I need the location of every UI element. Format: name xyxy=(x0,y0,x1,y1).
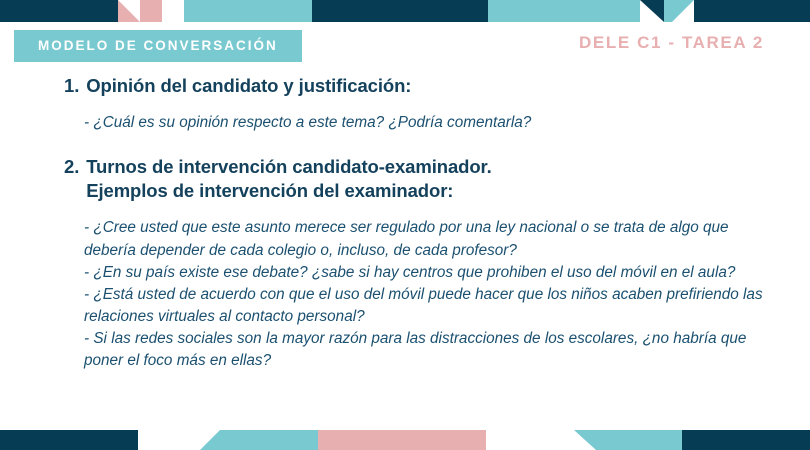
header: MODELO DE CONVERSACIÓN DELE C1 - TAREA 2 xyxy=(0,30,810,64)
navy-block-right xyxy=(682,430,810,450)
teal-triangle-right xyxy=(672,0,694,22)
section-1-heading-text: Opinión del candidato y justificación: xyxy=(86,74,810,98)
section-1-number: 1. xyxy=(64,74,79,98)
section-1-question-1: - ¿Cuál es su opinión respecto a este te… xyxy=(0,112,810,134)
teal-block-one xyxy=(184,0,312,22)
section-2: 2. Turnos de intervención candidato-exam… xyxy=(0,155,810,373)
section-2-question-1: - ¿Cree usted que este asunto merece ser… xyxy=(0,217,810,261)
navy-block-left xyxy=(0,0,118,22)
section-2-question-2: - ¿En su país existe ese debate? ¿sabe s… xyxy=(0,262,810,284)
pink-block xyxy=(318,430,486,450)
section-2-question-3: - ¿Está usted de acuerdo con que el uso … xyxy=(0,284,810,328)
section-1: 1. Opinión del candidato y justificación… xyxy=(0,74,810,135)
navy-block-center xyxy=(312,0,488,22)
section-2-heading-text-group: Turnos de intervención candidato-examina… xyxy=(86,155,810,204)
navy-block-right xyxy=(694,0,810,22)
exam-tag: DELE C1 - TAREA 2 xyxy=(579,33,764,53)
section-2-heading-line-1: Turnos de intervención candidato-examina… xyxy=(86,156,491,177)
teal-block-right xyxy=(596,430,682,450)
top-decorative-band xyxy=(0,0,810,22)
teal-block-two xyxy=(488,0,640,22)
section-2-number: 2. xyxy=(64,155,79,179)
white-gap-left xyxy=(138,430,200,450)
teal-block xyxy=(220,430,318,450)
white-triangle xyxy=(162,0,184,22)
teal-triangle-bottom xyxy=(200,430,220,450)
content-body: 1. Opinión del candidato y justificación… xyxy=(0,74,810,373)
model-label-text: MODELO DE CONVERSACIÓN xyxy=(38,39,278,53)
section-2-question-4: - Si las redes sociales son la mayor raz… xyxy=(0,328,810,372)
teal-triangle-right xyxy=(574,430,596,450)
slide-root: MODELO DE CONVERSACIÓN DELE C1 - TAREA 2… xyxy=(0,0,810,450)
navy-triangle-right xyxy=(640,0,664,22)
teal-sliver xyxy=(664,0,672,22)
navy-block-left xyxy=(0,430,138,450)
white-gap-right xyxy=(486,430,574,450)
section-2-heading: 2. Turnos de intervención candidato-exam… xyxy=(0,155,810,204)
section-2-heading-line-2: Ejemplos de intervención del examinador: xyxy=(86,179,810,203)
section-1-heading: 1. Opinión del candidato y justificación… xyxy=(0,74,810,98)
model-label-banner: MODELO DE CONVERSACIÓN xyxy=(14,30,302,62)
bottom-decorative-band xyxy=(0,430,810,450)
pink-block xyxy=(140,0,162,22)
pink-triangle xyxy=(118,0,140,22)
